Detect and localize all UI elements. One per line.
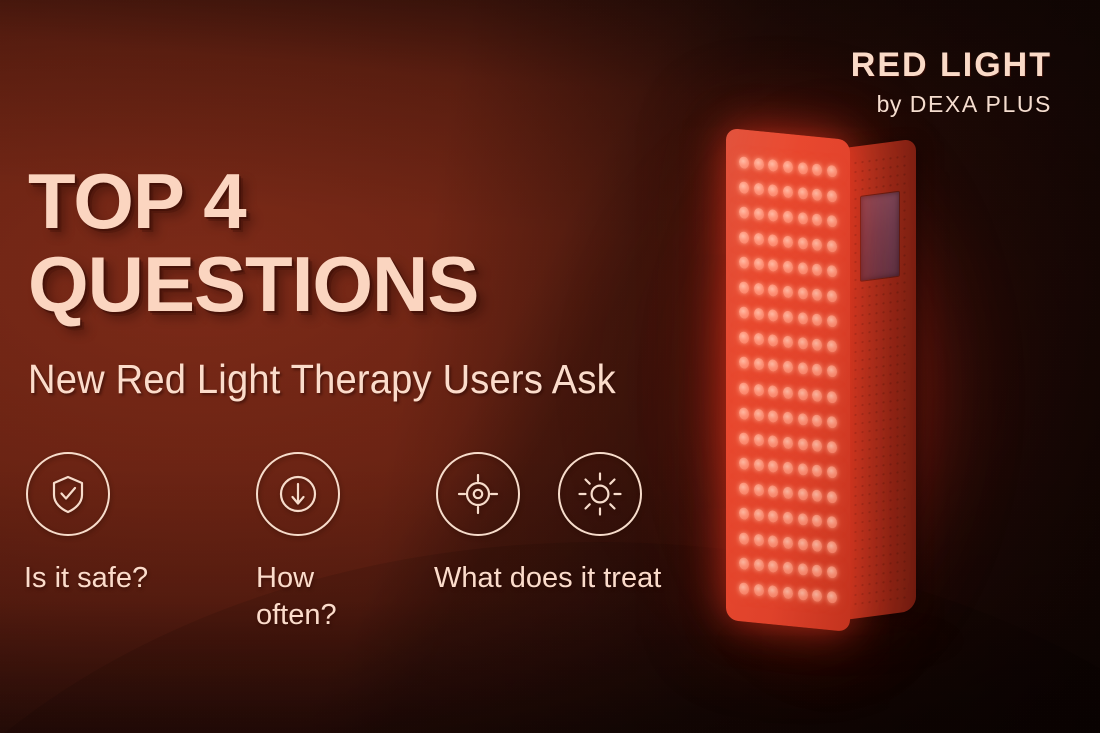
led-dot [783,436,793,449]
led-dot [798,387,808,400]
led-dot [754,333,764,346]
led-dot [783,562,793,575]
led-dot [798,362,808,375]
led-dot [768,234,778,247]
led-dot [768,435,778,448]
led-dot [798,588,808,601]
led-dot [812,339,822,352]
led-dot [768,159,778,172]
led-dot [827,240,837,253]
led-dot [783,386,793,399]
led-dot [812,389,822,402]
led-dot [827,591,837,604]
question-item-brightness [558,452,642,560]
question-label-treats: What does it treat [434,560,661,597]
led-dot [754,182,764,195]
led-dot [783,260,793,273]
led-dot [798,513,808,526]
led-dot [754,433,764,446]
led-dot [812,514,822,527]
led-dot [812,489,822,502]
led-dot [798,488,808,501]
led-dot [739,407,749,420]
led-dot [798,287,808,300]
led-dot [768,259,778,272]
led-dot [812,364,822,377]
led-dot [827,491,837,504]
target-icon [436,452,520,536]
led-dot [768,485,778,498]
led-dot [783,537,793,550]
led-dot [827,516,837,529]
led-dot [754,232,764,245]
question-icon-row: Is it safe? How often? [0,452,760,692]
led-dot [798,161,808,174]
led-dot [812,539,822,552]
led-dot [827,365,837,378]
shield-check-icon [26,452,110,536]
led-dot [827,440,837,453]
led-dot [798,413,808,426]
led-dot [812,263,822,276]
led-dot [739,281,749,294]
arrow-down-circle-icon [256,452,340,536]
led-dot [739,357,749,370]
headline-line-2: QUESTIONS [28,247,478,322]
led-dot [754,283,764,296]
question-label-safe: Is it safe? [24,560,148,597]
logo-brand-name: DEXA PLUS [910,91,1052,117]
logo-secondary-text: by DEXA PLUS [851,93,1052,116]
question-label-frequency: How often? [256,560,340,634]
led-dot [768,460,778,473]
led-dot [783,160,793,173]
led-dot [812,313,822,326]
led-dot [827,265,837,278]
led-dot [754,308,764,321]
poster-canvas: RED LIGHT by DEXA PLUS TOP 4 QUESTIONS N… [0,0,1100,733]
led-dot [783,461,793,474]
led-dot [812,288,822,301]
page-title: TOP 4 QUESTIONS [28,164,478,322]
led-dot [812,439,822,452]
device-side-body [844,139,916,620]
led-dot [812,238,822,251]
led-dot [827,189,837,202]
led-dot [783,210,793,223]
led-dot [798,237,808,250]
led-dot [827,390,837,403]
led-dot [798,463,808,476]
led-dot [812,188,822,201]
led-dot [754,383,764,396]
led-dot [827,340,837,353]
led-dot [768,535,778,548]
led-dot [798,438,808,451]
led-dot [768,560,778,573]
led-dot [739,382,749,395]
led-dot [768,184,778,197]
led-dot [739,206,749,219]
question-item-frequency: How often? [256,452,340,634]
led-dot [798,337,808,350]
led-dot [768,209,778,222]
led-dot [798,312,808,325]
led-dot [768,284,778,297]
sun-brightness-icon [558,452,642,536]
led-dot [798,212,808,225]
led-dot [739,231,749,244]
led-dot [754,358,764,371]
led-dot [827,164,837,177]
led-dot [798,187,808,200]
led-dot [754,207,764,220]
led-dot [768,585,778,598]
led-dot [768,410,778,423]
led-dot [827,315,837,328]
led-dot [812,464,822,477]
led-dot [754,408,764,421]
led-dot [783,286,793,299]
led-dot [768,385,778,398]
device-control-screen [860,191,900,282]
led-dot [739,306,749,319]
logo-by-word: by [877,91,902,117]
led-dot [827,290,837,303]
led-dot [827,541,837,554]
led-dot [739,331,749,344]
led-dot [783,235,793,248]
led-dot [798,563,808,576]
led-dot [754,258,764,271]
led-dot [783,185,793,198]
led-dot [754,157,764,170]
led-dot [783,361,793,374]
led-dot [783,587,793,600]
led-dot [827,415,837,428]
led-dot [768,309,778,322]
brand-logo: RED LIGHT by DEXA PLUS [851,48,1052,116]
led-dot [812,163,822,176]
led-dot [739,256,749,269]
led-dot [739,432,749,445]
led-dot [739,181,749,194]
led-dot [812,414,822,427]
led-dot [827,466,837,479]
led-dot [798,262,808,275]
led-dot [783,512,793,525]
logo-primary-text: RED LIGHT [851,48,1052,82]
headline-line-1: TOP 4 [28,164,478,239]
led-dot [768,510,778,523]
led-dot [783,486,793,499]
led-dot [812,590,822,603]
led-dot [827,214,837,227]
page-subtitle: New Red Light Therapy Users Ask [28,356,616,403]
led-dot [768,334,778,347]
led-dot [827,566,837,579]
led-dot [739,156,749,169]
led-dot [783,411,793,424]
led-dot [783,336,793,349]
led-dot [798,538,808,551]
led-dot [768,359,778,372]
led-dot [783,311,793,324]
led-dot [812,213,822,226]
led-dot [812,565,822,578]
question-item-safe: Is it safe? [26,452,148,597]
